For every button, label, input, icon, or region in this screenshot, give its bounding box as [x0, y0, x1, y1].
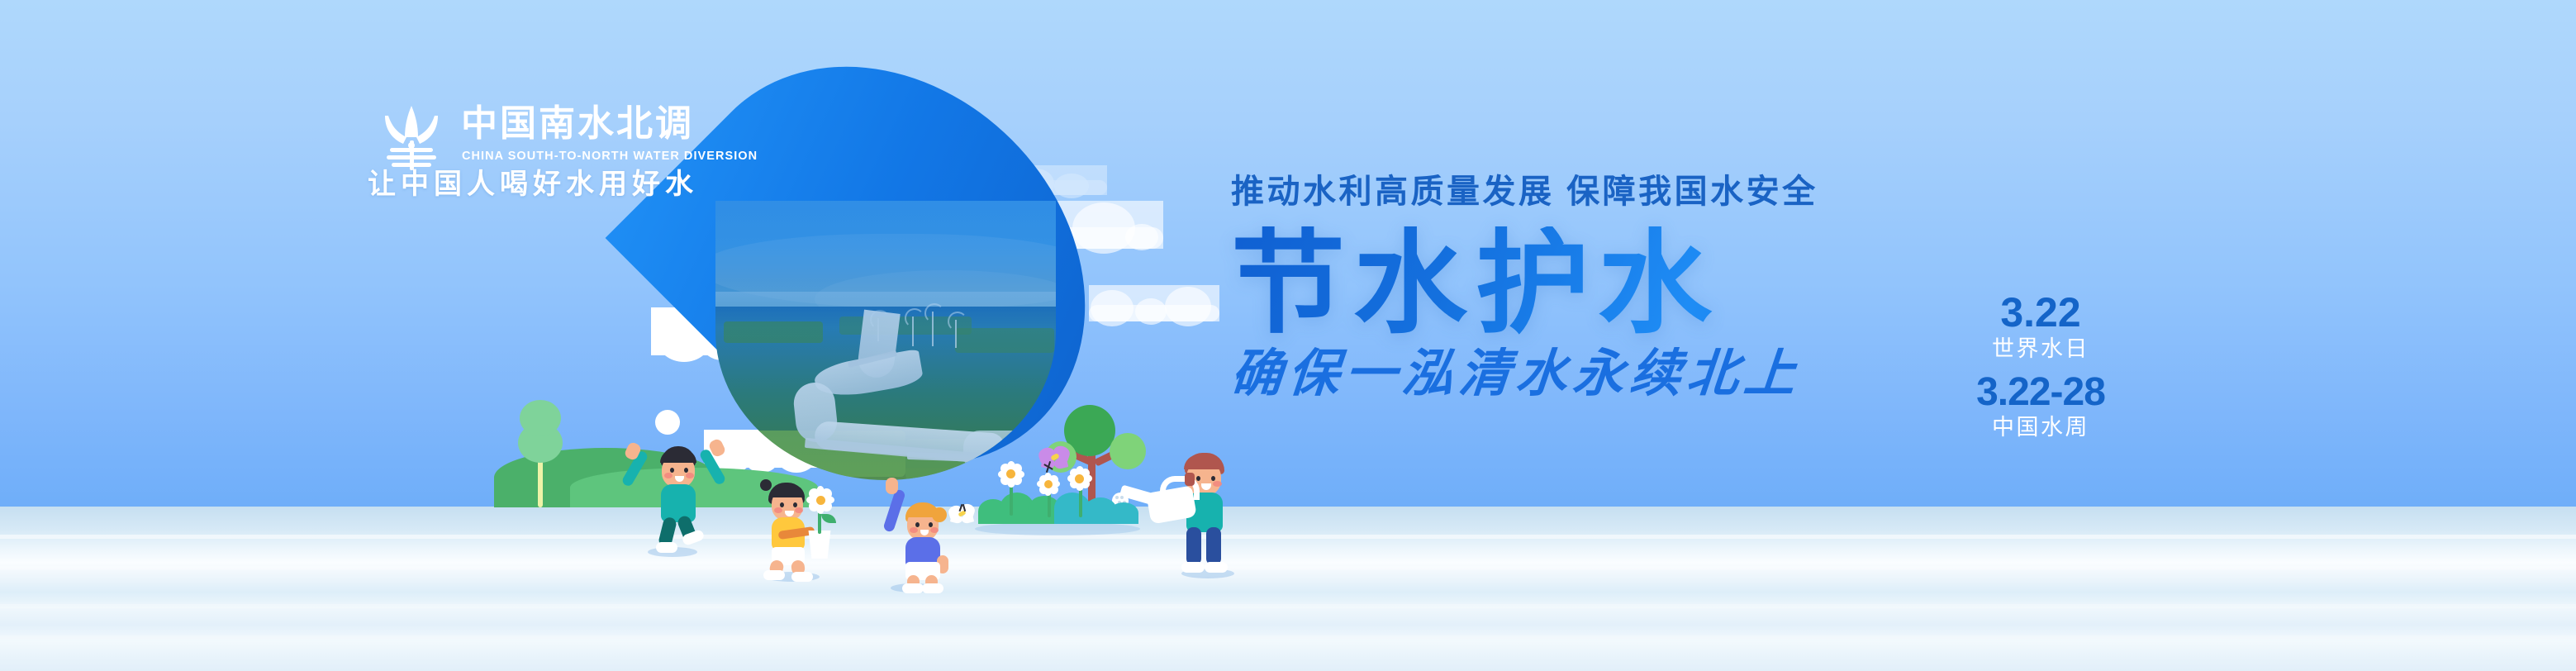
- date-number-world-water-day: 3.22: [1946, 291, 2136, 335]
- cloud-icon: [1089, 285, 1219, 321]
- water-droplet-illustration: [707, 48, 1064, 484]
- pointing-child-illustration: [877, 486, 977, 592]
- logo-name-en: CHINA SOUTH-TO-NORTH WATER DIVERSION: [462, 150, 758, 163]
- girl-with-flowerpot-illustration: [750, 478, 866, 581]
- brand-logo[interactable]: 中国南水北调 CHINA SOUTH-TO-NORTH WATER DIVERS…: [373, 101, 687, 207]
- butterfly-icon: [948, 504, 977, 529]
- date-label-china-water-week: 中国水周: [1946, 413, 2136, 442]
- date-label-world-water-day: 世界水日: [1946, 335, 2136, 364]
- headline-subtitle: 确保一泓清水永续北上: [1229, 345, 1977, 404]
- date-number-china-water-week: 3.22-28: [1946, 372, 2136, 413]
- sun-dot-icon: [655, 410, 680, 435]
- boy-with-watering-can-illustration: [1140, 453, 1272, 578]
- south-to-north-water-diversion-emblem-icon: [373, 104, 449, 175]
- headline-main: 节水护水: [1231, 226, 1975, 340]
- ground-plane: [0, 507, 2576, 671]
- canal-landscape-photo: [715, 201, 1056, 480]
- butterfly-icon: [1038, 446, 1072, 476]
- logo-name-cn: 中国南水北调: [461, 106, 694, 142]
- headline-topline: 推动水利高质量发展 保障我国水安全: [1231, 174, 1975, 210]
- logo-slogan: 让中国人喝好水用好水: [368, 170, 698, 198]
- jumping-boy-illustration: [628, 438, 735, 554]
- headline-block: 推动水利高质量发展 保障我国水安全 节水护水 确保一泓清水永续北上: [1231, 174, 1975, 404]
- water-day-banner: 中国南水北调 CHINA SOUTH-TO-NORTH WATER DIVERS…: [0, 0, 2576, 671]
- dates-block: 3.22 世界水日 3.22-28 中国水周: [1946, 291, 2136, 450]
